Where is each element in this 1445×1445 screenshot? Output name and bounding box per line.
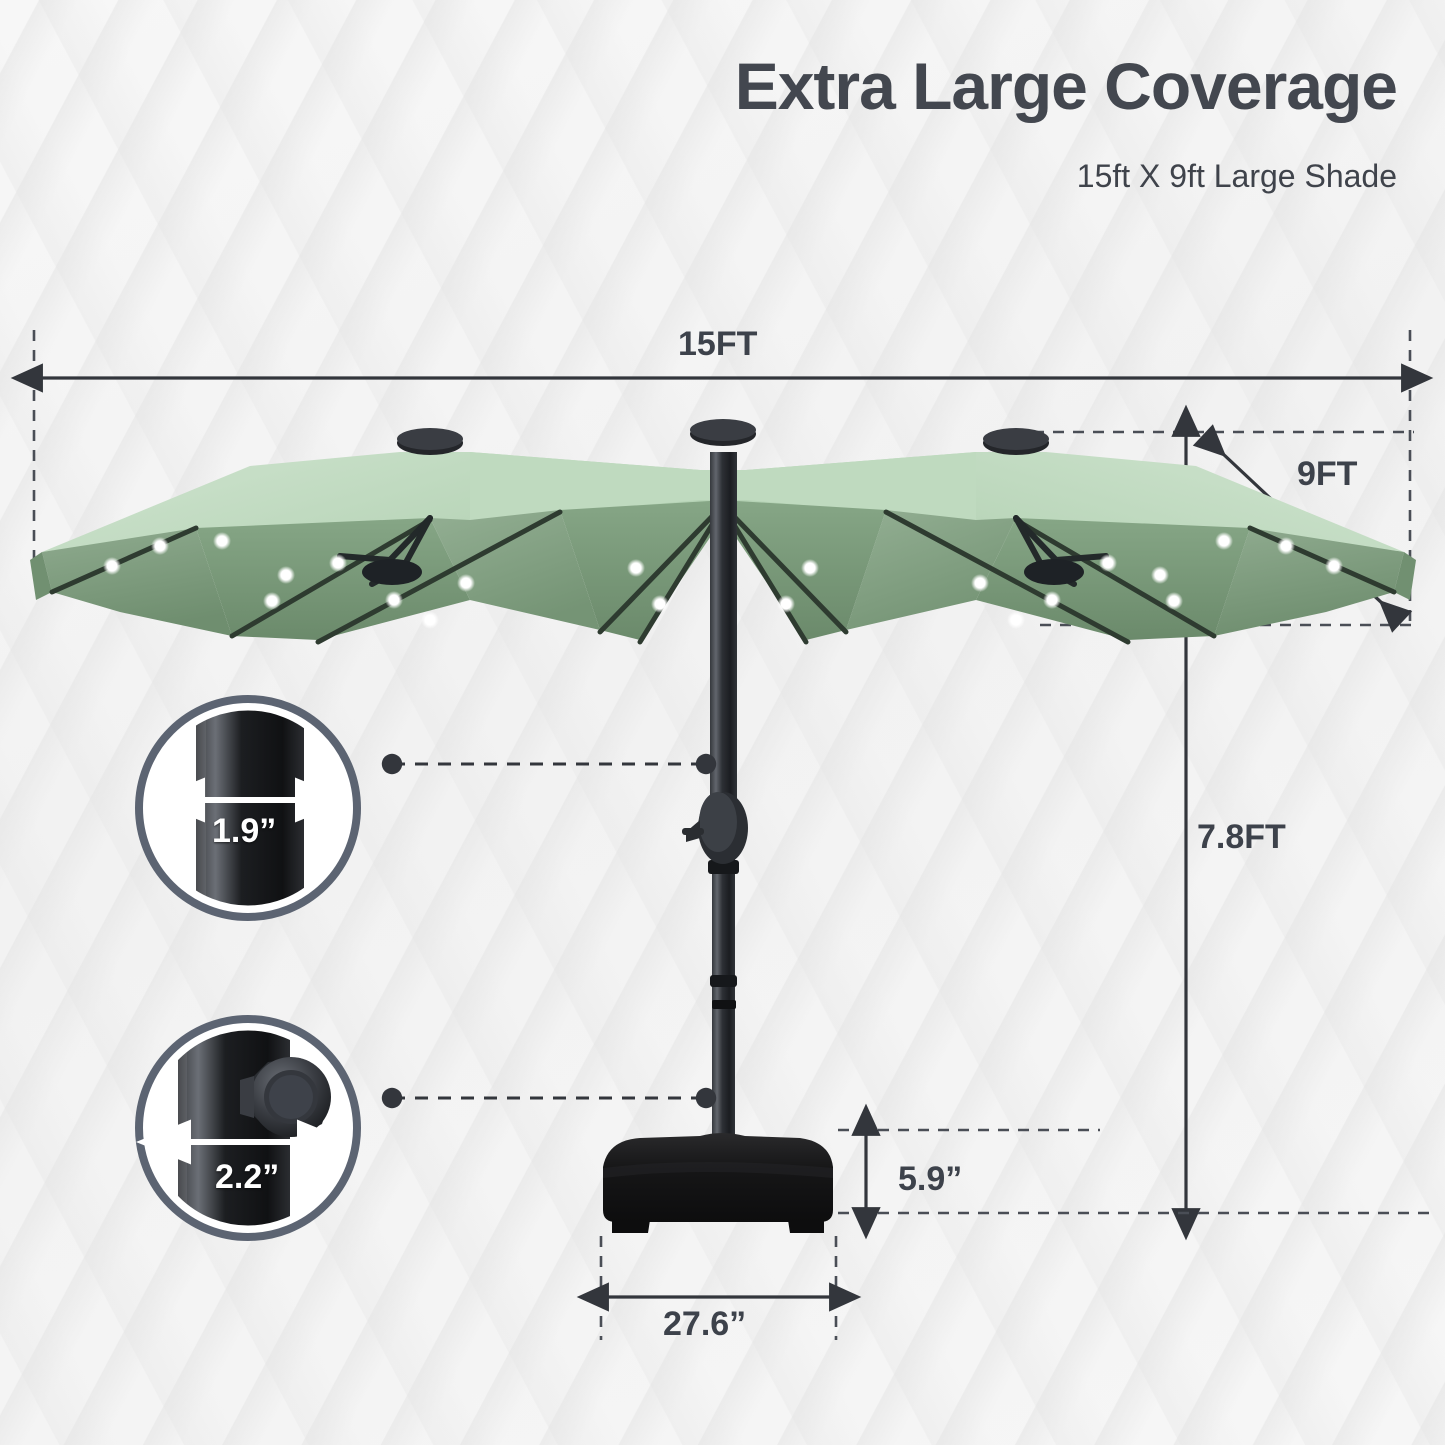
page-subtitle: 15ft X 9ft Large Shade: [1077, 158, 1397, 195]
product-illustration: [0, 0, 1445, 1445]
page-title: Extra Large Coverage: [735, 48, 1397, 124]
solar-panel-disc: [397, 419, 1049, 455]
detail-circle-pole-joint: [139, 1000, 357, 1260]
dimension-label-base-width: 27.6”: [663, 1305, 746, 1344]
crank-handle: [682, 792, 748, 864]
detail-label-pole-diameter: 1.9”: [212, 812, 276, 851]
rib-hub-left: [362, 559, 422, 585]
dimension-label-depth: 9FT: [1297, 455, 1357, 494]
guide-lines-width: [34, 330, 1410, 628]
canopy-ribs-right: [720, 502, 1394, 642]
solar-led-lights: [103, 532, 1343, 629]
umbrella-pole: [682, 452, 748, 1152]
dimension-label-width: 15FT: [678, 325, 757, 364]
detail-circle-pole-diameter: [139, 690, 357, 930]
dimension-label-base-height: 5.9”: [898, 1160, 962, 1199]
detail-label-pole-joint: 2.2”: [215, 1158, 279, 1197]
rib-hub-right: [1024, 559, 1084, 585]
umbrella-base: [603, 1133, 833, 1233]
canopy-struts: [340, 500, 1106, 584]
tension-knob: [240, 1057, 331, 1137]
umbrella-canopy: [30, 419, 1416, 642]
infographic-canvas: Extra Large Coverage 15ft X 9ft Large Sh…: [0, 0, 1445, 1445]
dimension-label-height: 7.8FT: [1197, 818, 1286, 857]
canopy-ribs-left: [52, 502, 726, 642]
